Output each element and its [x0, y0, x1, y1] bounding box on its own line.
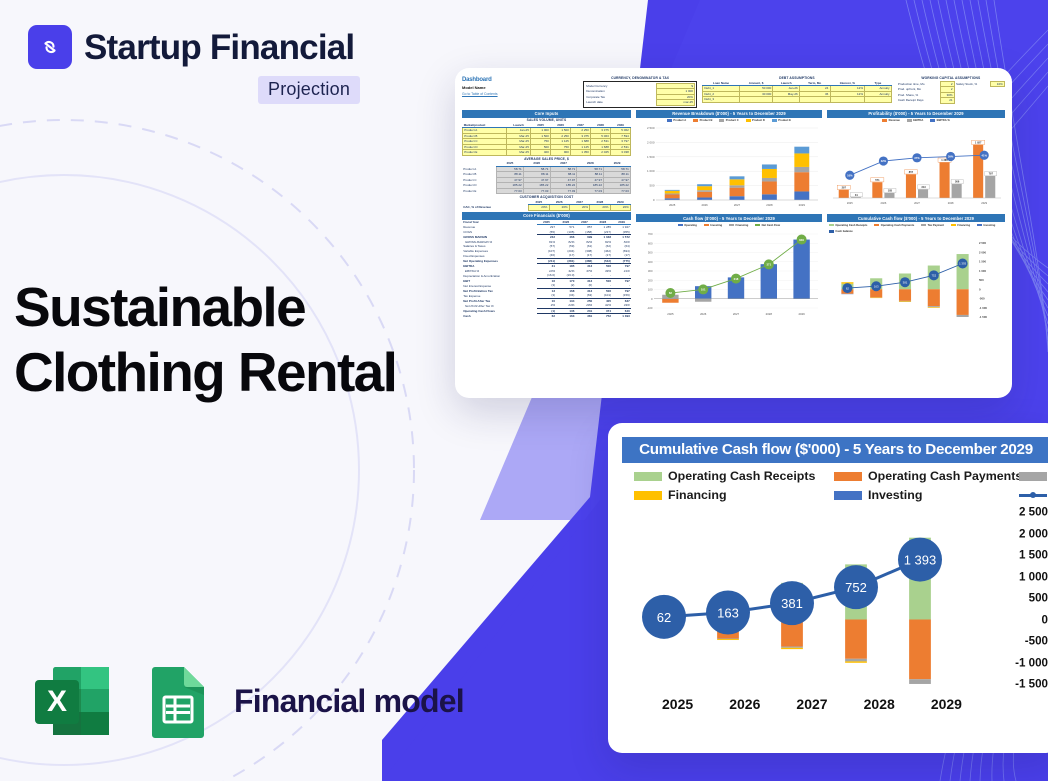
svg-text:1 393: 1 393: [959, 262, 966, 266]
svg-text:700: 700: [648, 232, 653, 236]
legend-item: Operating: [678, 224, 697, 228]
legend-item: Operating Cash Payments: [874, 224, 914, 228]
legend-label: Operating Cash Receipts: [835, 224, 867, 227]
x-axis-labels: 20252026202720282029: [644, 696, 980, 712]
legend-item-financing: Financing: [634, 488, 834, 502]
legend-item: Net Cash Flow: [755, 224, 780, 228]
cell[interactable]: [799, 97, 830, 103]
left-panel: Startup Financial Projection Sustainable…: [0, 0, 430, 781]
legend-swatch: [634, 491, 662, 500]
profitability-chart-legend: Revenue EBITDA EBITDA %: [827, 119, 1005, 123]
cell[interactable]: Debt_3: [703, 97, 740, 103]
svg-text:506: 506: [955, 180, 960, 184]
svg-text:797: 797: [989, 172, 994, 176]
x-tick-label: 2025: [644, 696, 711, 712]
cell[interactable]: 1 350: [571, 150, 591, 156]
svg-text:500: 500: [979, 278, 984, 282]
legend-label: Product E: [778, 119, 791, 122]
cell[interactable]: 20%: [569, 205, 589, 211]
y-tick-label: 1 500: [1019, 549, 1048, 562]
legend-swatch: [1019, 472, 1047, 481]
svg-text:2026: 2026: [700, 312, 707, 316]
table-row: CAC, % of Revenue 20% 20% 20% 20% 20%: [462, 205, 631, 211]
table-of-contents-link[interactable]: Go to Table of Contents: [462, 92, 578, 97]
svg-text:163: 163: [717, 605, 739, 620]
legend-item: Investing: [977, 224, 995, 228]
svg-text:1 927: 1 927: [975, 141, 982, 145]
svg-text:62: 62: [657, 610, 671, 625]
svg-text:2 000: 2 000: [979, 250, 986, 254]
page-title: Sustainable Clothing Rental: [14, 275, 414, 405]
svg-text:1 500: 1 500: [979, 260, 986, 264]
legend-label: Product A: [673, 119, 686, 122]
legend-label: Investing: [710, 224, 722, 227]
svg-text:571: 571: [875, 178, 880, 182]
cac-table: 2025 2026 2027 2028 2029 CAC, % of Reven…: [462, 200, 631, 211]
footer-row: X Financial model: [26, 663, 464, 739]
cashflow-chart-legend: Operating Investing Financing Net Cash F…: [636, 224, 822, 228]
y-axis-labels: 2 5002 0001 5001 0005000-500-1 000-1 500: [990, 508, 1048, 686]
revenue-chart-legend: Product A Product B Product C Product D …: [636, 119, 822, 123]
legend-item: Product B: [693, 119, 712, 123]
cumulative-cash-flow-chart-mini: 2 5002 0001 5001 0005000-500-1 000-1 500…: [827, 235, 1005, 331]
svg-text:218: 218: [734, 277, 739, 281]
loop-logo-icon: [28, 25, 72, 69]
core-inputs-column: Core Inputs SALES VOLUME, UNITS Market/p…: [462, 110, 631, 332]
y-tick-label: 2 000: [1019, 527, 1048, 540]
legend-label: Investing: [983, 224, 995, 227]
legend-item: EBITDA %: [930, 119, 949, 123]
legend-label: EBITDA %: [937, 119, 950, 122]
svg-text:101: 101: [701, 288, 706, 292]
profitability-chart-title: Profitability ($'000) - 5 Years to Decem…: [827, 110, 1005, 118]
legend-item-investing: Investing: [834, 488, 1019, 502]
svg-text:752: 752: [931, 274, 936, 278]
average-price-table: 2025 2026 2027 2028 2029 Product A58.715…: [462, 161, 631, 194]
svg-text:2028: 2028: [766, 312, 773, 316]
legend-item: Financing: [951, 224, 970, 228]
legend-item: Cash balance: [829, 230, 853, 234]
svg-text:-500: -500: [979, 297, 985, 301]
svg-text:313: 313: [921, 185, 926, 189]
svg-text:2027: 2027: [914, 201, 920, 205]
debt-assumptions-table: Loan Name Amount, $ Launch Term, Mo Inte…: [702, 81, 892, 103]
cell[interactable]: 400: [531, 150, 551, 156]
cell[interactable]: 2 025: [591, 150, 611, 156]
svg-text:0: 0: [979, 287, 981, 291]
cell[interactable]: 20%: [529, 205, 549, 211]
svg-text:2026: 2026: [701, 203, 708, 207]
brand-subtitle: Projection: [258, 76, 360, 104]
cell: 1 393: [612, 314, 631, 319]
y-tick-label: 2 500: [1019, 506, 1048, 519]
row-label: Launch date: [585, 100, 656, 106]
svg-text:X: X: [47, 685, 67, 718]
svg-text:752: 752: [845, 580, 867, 595]
cell: 77.03: [604, 188, 631, 194]
model-name-label: Model Name: [462, 85, 578, 91]
cell[interactable]: [739, 97, 773, 103]
table-row: Launch datemar-25: [585, 100, 695, 106]
cell: 77.03: [497, 188, 524, 194]
y-tick-label: 1 000: [1019, 570, 1048, 583]
legend-label: Operating Cash Receipts: [668, 469, 815, 483]
cell[interactable]: 900: [551, 150, 571, 156]
svg-text:2027: 2027: [734, 203, 741, 207]
cell: 752: [593, 314, 612, 319]
svg-text:0: 0: [651, 297, 653, 301]
cumulative-cash-flow-card[interactable]: Cumulative Cash flow ($'000) - 5 Years t…: [608, 423, 1048, 753]
svg-text:2025: 2025: [847, 201, 853, 205]
svg-text:600: 600: [648, 242, 653, 246]
legend-item-operating-cash-receipts: Operating Cash Receipts: [634, 469, 834, 483]
legend-label: EBITDA: [913, 119, 923, 122]
svg-text:381: 381: [903, 281, 908, 285]
row-label: Product E: [462, 188, 497, 194]
legend-label: Net Cash Flow: [762, 224, 781, 227]
cell[interactable]: 20%: [590, 205, 610, 211]
table-row: Product EMar-254009001 3502 0253 038: [463, 150, 631, 156]
row-label: CAC, % of Revenue: [462, 205, 529, 211]
cell[interactable]: 20%: [549, 205, 569, 211]
x-tick-label: 2026: [711, 696, 778, 712]
chart-legend: Operating Cash Receipts Operating Cash P…: [634, 469, 1048, 502]
cell[interactable]: 20%: [610, 205, 630, 211]
dashboard-screenshot-card[interactable]: Dashboard Model Name Go to Table of Cont…: [455, 68, 1012, 398]
cell[interactable]: [830, 97, 865, 103]
core-financials-band: Core Financials ($'000): [462, 212, 631, 220]
revenue-breakdown-chart: 05001 0001 5002 0002 5002025202620272028…: [636, 124, 822, 212]
svg-text:2029: 2029: [799, 203, 806, 207]
working-capital-block: WORKING CAPITAL ASSUMPTIONS Production t…: [897, 76, 1005, 108]
chart-plot-area: 621633817521 393 2 5002 0001 5001 000500…: [622, 508, 1048, 708]
cash-flow-chart: -100010020030040050060070020252026202720…: [636, 228, 822, 324]
cell: 77.03: [550, 188, 577, 194]
y-tick-label: 500: [1029, 592, 1048, 605]
legend-item: Investing: [704, 224, 722, 228]
legend-item: Financing: [729, 224, 748, 228]
legend-label: Financing: [668, 488, 727, 502]
legend-item: Product A: [667, 119, 686, 123]
profitability-chart: 297312025571185202685731320271 285506202…: [827, 124, 1005, 212]
legend-label: Product C: [726, 119, 739, 122]
svg-text:371: 371: [766, 263, 771, 267]
legend-label: Operating Cash Payments: [868, 469, 1022, 483]
legend-label: Operating: [684, 224, 697, 227]
svg-text:381: 381: [781, 596, 803, 611]
chart-title: Cumulative Cash flow ($'000) - 5 Years t…: [622, 437, 1048, 463]
svg-text:1 000: 1 000: [647, 169, 655, 173]
legend-label: Financing: [957, 224, 970, 227]
y-tick-label: -1 500: [1015, 678, 1048, 691]
cumulative-chart-title-mini: Cumulative Cash flow ($'000) - 5 Years t…: [827, 214, 1005, 222]
table-row: Product E77.0377.0377.0377.0377.03: [462, 188, 631, 194]
svg-text:-1 500: -1 500: [979, 315, 987, 319]
legend-label: Product B: [700, 119, 713, 122]
svg-text:39%: 39%: [948, 155, 954, 159]
svg-text:2027: 2027: [733, 312, 740, 316]
svg-text:1 500: 1 500: [647, 155, 655, 159]
core-financials-table: Fiscal Year 2025 2026 2027 2028 2029 Rev…: [462, 220, 631, 319]
svg-text:640: 640: [799, 238, 804, 242]
legend-item: Product C: [719, 119, 738, 123]
legend-line-marker: [1019, 491, 1047, 500]
legend-label: Product D: [752, 119, 765, 122]
svg-text:1 000: 1 000: [979, 269, 986, 273]
svg-text:37%: 37%: [914, 156, 920, 160]
dashboard-assumptions-row: Dashboard Model Name Go to Table of Cont…: [462, 76, 1005, 108]
sales-volume-table: Market/product Launch 2025 2026 2027 202…: [462, 123, 631, 156]
svg-text:2029: 2029: [798, 312, 805, 316]
svg-text:500: 500: [649, 184, 654, 188]
svg-text:857: 857: [909, 170, 914, 174]
microsoft-excel-icon: X: [26, 663, 122, 739]
x-tick-label: 2027: [778, 696, 845, 712]
table-row: Cash Receipt Days 21: [897, 98, 1005, 104]
cell: 77.03: [523, 188, 550, 194]
svg-text:10%: 10%: [847, 173, 853, 177]
legend-swatch: [834, 472, 862, 481]
cell[interactable]: 3 038: [611, 150, 631, 156]
svg-text:62: 62: [669, 292, 673, 296]
svg-text:2 500: 2 500: [647, 126, 655, 130]
svg-text:500: 500: [648, 251, 653, 255]
legend-label: Investing: [868, 488, 922, 502]
svg-text:1 393: 1 393: [904, 553, 937, 568]
legend-label: Revenue: [889, 119, 900, 122]
y-tick-label: 0: [1042, 613, 1048, 626]
working-capital-table: Production time, Mo 2 Safety Stock, % 10…: [897, 81, 1005, 104]
legend-label: Financing: [736, 224, 749, 227]
legend-item-cash-balance: Cash balance: [1019, 488, 1048, 502]
svg-text:2028: 2028: [948, 201, 954, 205]
core-inputs-band: Core Inputs: [462, 110, 631, 118]
svg-text:41%: 41%: [982, 153, 988, 157]
table-row: Cash621633817521 393: [462, 314, 631, 319]
right-charts-column: Profitability ($'000) - 5 Years to Decem…: [827, 110, 1005, 332]
cell: 62: [537, 314, 556, 319]
row-value[interactable]: mar-25: [656, 100, 694, 106]
middle-charts-column: Revenue Breakdown ($'000) - 5 Years to D…: [636, 110, 822, 332]
cell[interactable]: Product E: [463, 150, 507, 156]
svg-text:2028: 2028: [766, 203, 773, 207]
x-tick-label: 2028: [846, 696, 913, 712]
legend-swatch: [834, 491, 862, 500]
legend-label: Cash balance: [835, 230, 852, 233]
y-tick-label: -1 000: [1015, 656, 1048, 669]
google-sheets-icon: [142, 663, 214, 739]
cumulative-cash-flow-plot: 621633817521 393: [622, 508, 990, 704]
svg-text:2025: 2025: [669, 203, 676, 207]
x-tick-label: 2029: [913, 696, 980, 712]
currency-assumptions-block: CURRENCY, DENOMINATOR & TAX Model Curren…: [583, 76, 697, 108]
currency-assumptions-table: Model Currency$ Denomination1 000 Corpor…: [585, 83, 695, 106]
svg-text:2 000: 2 000: [647, 141, 655, 145]
svg-text:0: 0: [653, 198, 655, 202]
svg-text:-100: -100: [647, 306, 653, 310]
legend-item: EBITDA: [907, 119, 923, 123]
cell: 381: [576, 314, 594, 319]
table-row: Debt_3: [703, 97, 892, 103]
svg-text:32%: 32%: [881, 159, 887, 163]
legend-item: Product E: [772, 119, 791, 123]
svg-text:297: 297: [842, 186, 847, 190]
svg-text:-1 000: -1 000: [979, 306, 987, 310]
legend-item: Revenue: [882, 119, 900, 123]
brand-title: Startup Financial: [84, 30, 354, 65]
legend-item: Operating Cash Receipts: [829, 224, 867, 228]
footer-label: Financial model: [234, 683, 464, 720]
y-tick-label: -500: [1025, 635, 1048, 648]
cell: 77.03: [577, 188, 604, 194]
legend-item: Tax Payment: [921, 224, 944, 228]
debt-assumptions-block: DEBT ASSUMPTIONS Loan Name Amount, $ Lau…: [702, 76, 892, 108]
revenue-chart-title: Revenue Breakdown ($'000) - 5 Years to D…: [636, 110, 822, 118]
row-label: Cash Receipt Days: [897, 98, 941, 104]
legend-item-operating-cash-payments: Operating Cash Payments: [834, 469, 1019, 483]
svg-text:200: 200: [648, 279, 653, 283]
svg-text:2 500: 2 500: [979, 241, 986, 245]
svg-text:300: 300: [648, 269, 653, 273]
cell: 163: [556, 314, 575, 319]
svg-text:2026: 2026: [881, 201, 887, 205]
cumulative-chart-legend-mini: Operating Cash Receipts Operating Cash P…: [827, 224, 1005, 234]
legend-item-tax-payment: Tax Payment: [1019, 469, 1048, 483]
row-label: Cash: [462, 314, 537, 319]
brand-lockup: Startup Financial: [28, 25, 354, 69]
svg-text:2025: 2025: [667, 312, 674, 316]
legend-swatch: [634, 472, 662, 481]
svg-text:400: 400: [648, 260, 653, 264]
legend-item: Product D: [746, 119, 765, 123]
cashflow-chart-title: Cash flow ($'000) - 5 Years to December …: [636, 214, 822, 222]
svg-text:62: 62: [846, 287, 850, 291]
svg-text:163: 163: [874, 285, 879, 289]
cell[interactable]: [865, 97, 892, 103]
cell[interactable]: [773, 97, 799, 103]
legend-label: Operating Cash Payments: [881, 224, 914, 227]
svg-text:185: 185: [888, 189, 893, 193]
legend-label: Tax Payment: [928, 224, 944, 227]
svg-text:100: 100: [648, 288, 653, 292]
svg-text:2029: 2029: [981, 201, 987, 205]
row-value[interactable]: 21: [940, 98, 954, 104]
cell[interactable]: Mar-25: [507, 150, 531, 156]
dashboard-heading: Dashboard: [462, 76, 578, 84]
dashboard-heading-block: Dashboard Model Name Go to Table of Cont…: [462, 76, 578, 108]
